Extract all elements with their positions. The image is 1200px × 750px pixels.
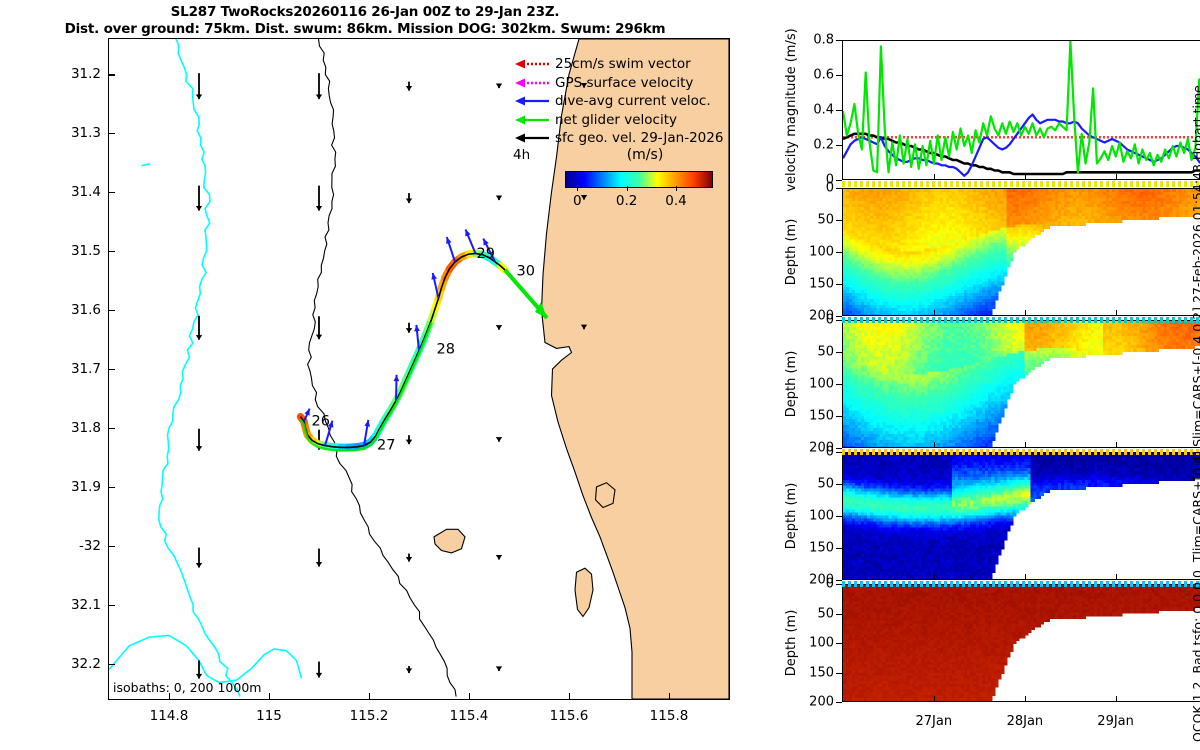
map-y-tick-label: 32.1: [71, 597, 101, 613]
map-waypoint-label: 28: [437, 341, 455, 357]
legend-item-label: sfc geo. vel. 29-Jan-2026: [555, 130, 723, 146]
panel-y-tick-mark: [836, 384, 842, 385]
figure-title: SL287 TwoRocks20260116 26-Jan 00Z to 29-…: [0, 4, 730, 38]
panel-x-tick-mark: [1025, 310, 1026, 316]
legend-item-label: GPS surface velocity: [555, 75, 693, 91]
figure-root: SL287 TwoRocks20260116 26-Jan 00Z to 29-…: [0, 0, 1200, 750]
legend-item: GPS surface velocity: [513, 74, 725, 93]
panel-y-tick-mark: [836, 252, 842, 253]
surface-sample-markers: [842, 449, 1200, 455]
velocity-magnitude-panel[interactable]: [842, 40, 1200, 180]
map-y-tick-label: 31.9: [71, 479, 101, 495]
map-waypoint-label: 26: [312, 413, 330, 429]
panel-y-tick-label: 0: [826, 181, 834, 196]
panel-y-tick-label: 100: [809, 636, 834, 651]
panel-y-tick-label: 0.2: [813, 138, 834, 153]
velocity-colorbar-tick-mark: [627, 186, 628, 191]
panel-x-tick-mark: [1116, 174, 1117, 180]
velocity-colorbar-tick-mark: [676, 186, 677, 191]
panel-y-tick-mark: [836, 614, 842, 615]
chlorophyll-plot-canvas: [843, 453, 1200, 580]
legend-arrow-icon: [513, 58, 551, 70]
legend-arrow-icon: [513, 95, 551, 107]
panel-x-tick-mark: [934, 574, 935, 580]
map-x-tick-label: 115.4: [450, 708, 489, 724]
map-x-tick-label: 115.2: [350, 708, 389, 724]
velocity-colorbar-tick-label: 0.2: [616, 193, 637, 209]
panel-y-tick-label: 50: [817, 345, 834, 360]
panel-y-tick-label: 150: [809, 277, 834, 292]
map-y-tick-label: 31.3: [71, 125, 101, 141]
panel-y-tick-label: 0: [826, 445, 834, 460]
panel-y-tick-mark: [836, 548, 842, 549]
map-waypoint-label: 29: [477, 246, 495, 262]
panel-y-tick-mark: [836, 145, 842, 146]
oxygen-section-panel[interactable]: [842, 584, 1200, 702]
panel-x-tick-mark: [1116, 442, 1117, 448]
panel-y-axis-label: velocity magnitude (m/s): [784, 28, 799, 191]
temperature-section-panel[interactable]: [842, 188, 1200, 316]
map-y-tick-label: 31.4: [71, 184, 101, 200]
panel-y-tick-label: 100: [809, 509, 834, 524]
map-y-tick-mark: [108, 369, 115, 370]
map-x-tick-label: 114.8: [150, 708, 189, 724]
legend-item: 25cm/s swim vector: [513, 55, 725, 74]
panel-x-tick-mark: [934, 442, 935, 448]
legend-arrow-icon: [513, 132, 551, 144]
panel-y-axis-label: Depth (m): [784, 219, 799, 286]
legend-item-label: dive-avg current veloc.: [555, 93, 711, 109]
panel-x-tick-mark: [1116, 310, 1117, 316]
map-x-tick-mark: [569, 693, 570, 700]
panel-y-tick-label: 50: [817, 213, 834, 228]
panel-x-tick-mark: [1025, 442, 1026, 448]
surface-sample-markers: [842, 317, 1200, 323]
map-x-tick-mark: [169, 693, 170, 700]
map-frame: 2627282930 isobaths: 0, 200 1000m 4h (m/…: [108, 38, 730, 700]
panel-y-axis-label: Depth (m): [784, 610, 799, 677]
panel-y-tick-mark: [836, 516, 842, 517]
panel-y-tick-label: 150: [809, 541, 834, 556]
section-x-tick-label: 27Jan: [916, 714, 953, 729]
panel-y-tick-label: 150: [809, 665, 834, 680]
panel-y-tick-mark: [836, 284, 842, 285]
map-y-tick-label: 31.2: [71, 66, 101, 82]
title-line-2: Dist. over ground: 75km. Dist. swum: 86k…: [0, 21, 730, 38]
velocity-colorbar-tick-label: 0: [573, 193, 582, 209]
panel-x-tick-mark: [934, 310, 935, 316]
legend-item-label: net glider velocity: [555, 112, 677, 128]
map-x-tick-mark: [469, 693, 470, 700]
panel-y-tick-mark: [836, 416, 842, 417]
velocity-colorbar-ticks: 00.20.4: [565, 191, 713, 209]
map-y-tick-mark: [108, 74, 115, 75]
map-y-tick-label: 31.8: [71, 420, 101, 436]
map-y-tick-label: 31.6: [71, 302, 101, 318]
map-y-tick-mark: [108, 251, 115, 252]
legend-scale-label: 4h: [513, 147, 530, 163]
panel-y-tick-mark: [836, 75, 842, 76]
panel-y-tick-mark: [836, 352, 842, 353]
panel-x-tick-mark: [1025, 174, 1026, 180]
panel-y-tick-label: 100: [809, 377, 834, 392]
panel-x-tick-mark: [1025, 574, 1026, 580]
legend-item: dive-avg current veloc.: [513, 92, 725, 111]
panel-y-tick-mark: [836, 702, 842, 703]
panel-y-tick-mark: [836, 110, 842, 111]
map-x-tick-label: 115: [256, 708, 282, 724]
map-y-tick-mark: [108, 428, 115, 429]
section-x-tick-label: 29Jan: [1097, 714, 1134, 729]
panel-y-tick-mark: [836, 643, 842, 644]
velocity-plot-canvas: [843, 41, 1200, 180]
panel-y-tick-mark: [836, 40, 842, 41]
panel-y-axis-label: Depth (m): [784, 483, 799, 550]
chlorophyll-section-panel[interactable]: [842, 452, 1200, 580]
map-panel[interactable]: 2627282930 isobaths: 0, 200 1000m 4h (m/…: [108, 38, 730, 700]
panel-y-tick-label: 0: [826, 577, 834, 592]
salinity-plot-canvas: [843, 321, 1200, 448]
temperature-plot-canvas: [843, 189, 1200, 316]
right-column: 00.20.40.60.8velocity magnitude (m/s)050…: [762, 0, 1200, 750]
panel-y-tick-label: 100: [809, 245, 834, 260]
legend-arrow-icon: [513, 77, 551, 89]
legend-colorbar-title: (m/s): [565, 147, 725, 163]
panel-y-tick-label: 0.8: [813, 33, 834, 48]
panel-y-tick-label: 50: [817, 606, 834, 621]
map-x-tick-label: 115.6: [550, 708, 589, 724]
legend-arrow-icon: [513, 114, 551, 126]
map-x-tick-mark: [269, 693, 270, 700]
map-y-tick-mark: [108, 605, 115, 606]
map-y-tick-mark: [108, 310, 115, 311]
velocity-colorbar-tick-label: 0.4: [665, 193, 686, 209]
panel-x-tick-mark: [934, 174, 935, 180]
velocity-colorbar-tick-mark: [577, 186, 578, 191]
velocity-colorbar: [565, 171, 713, 188]
panel-y-tick-label: 50: [817, 477, 834, 492]
legend-item: sfc geo. vel. 29-Jan-2026: [513, 129, 725, 148]
map-waypoint-label: 30: [517, 264, 535, 280]
map-y-tick-mark: [108, 133, 115, 134]
isobath-legend-label: isobaths: 0, 200 1000m: [113, 680, 261, 695]
panel-y-tick-label: 0.4: [813, 103, 834, 118]
surface-sample-markers: [842, 181, 1200, 187]
panel-x-tick-mark: [934, 696, 935, 702]
footer-note: QCOK 1 2. Bad tsfo: 0 0 0 0. Tlim=CARS+[…: [1190, 85, 1200, 742]
panel-y-tick-label: 200: [809, 695, 834, 710]
surface-sample-markers: [842, 581, 1200, 587]
legend-item: net glider velocity: [513, 111, 725, 130]
map-x-tick-mark: [669, 693, 670, 700]
oxygen-plot-canvas: [843, 585, 1200, 702]
map-y-tick-label: 31.7: [71, 361, 101, 377]
map-y-tick-label: -32: [79, 538, 101, 554]
panel-y-tick-mark: [836, 673, 842, 674]
panel-x-tick-mark: [1025, 696, 1026, 702]
salinity-section-panel[interactable]: [842, 320, 1200, 448]
map-x-tick-label: 115.8: [650, 708, 689, 724]
section-x-tick-label: 28Jan: [1007, 714, 1044, 729]
panel-y-tick-label: 0: [826, 313, 834, 328]
map-y-tick-mark: [108, 664, 115, 665]
map-y-tick-mark: [108, 192, 115, 193]
panel-y-tick-mark: [836, 220, 842, 221]
legend-item-label: 25cm/s swim vector: [555, 56, 691, 72]
title-line-1: SL287 TwoRocks20260116 26-Jan 00Z to 29-…: [0, 4, 730, 21]
map-y-tick-mark: [108, 487, 115, 488]
panel-x-tick-mark: [1116, 574, 1117, 580]
map-y-tick-mark: [108, 546, 115, 547]
panel-y-tick-mark: [836, 188, 842, 189]
map-y-tick-label: 31.5: [71, 243, 101, 259]
panel-y-axis-label: Depth (m): [784, 351, 799, 418]
panel-y-tick-label: 150: [809, 409, 834, 424]
map-y-tick-label: 32.2: [71, 656, 101, 672]
map-waypoint-label: 27: [377, 437, 395, 453]
panel-y-tick-label: 0.6: [813, 68, 834, 83]
panel-x-tick-mark: [1116, 696, 1117, 702]
panel-y-tick-mark: [836, 484, 842, 485]
map-x-tick-mark: [369, 693, 370, 700]
